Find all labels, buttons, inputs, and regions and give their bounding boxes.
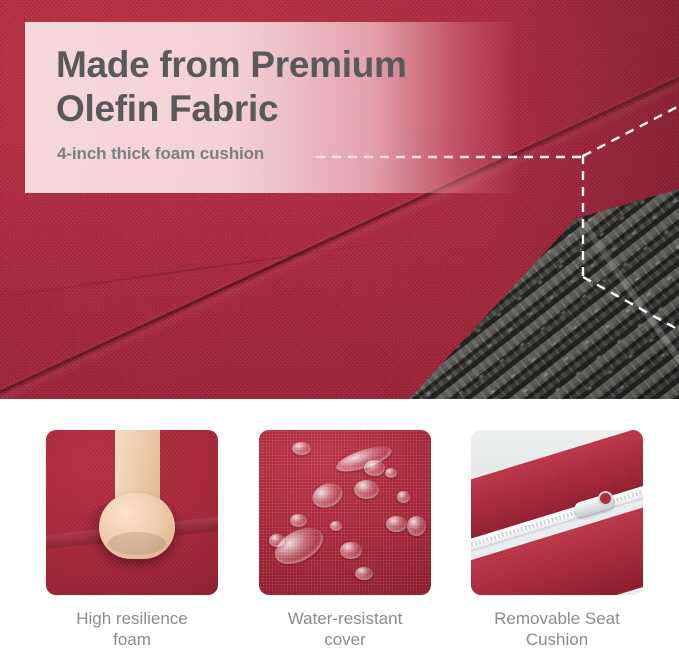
feature-image-foam xyxy=(46,430,218,595)
water-droplet xyxy=(397,491,411,503)
water-droplet xyxy=(292,442,311,455)
hero-headline: Made from Premium Olefin Fabric xyxy=(56,43,486,131)
water-droplet xyxy=(407,516,426,536)
feature-water-resistant-cover[interactable]: Water-resistant cover xyxy=(259,430,431,650)
feature-caption-cushion: Removable Seat Cushion xyxy=(471,608,643,650)
water-droplet xyxy=(330,521,342,531)
feature-caption-foam: High resilience foam xyxy=(46,608,218,650)
headline-line-1: Made from Premium xyxy=(56,44,407,85)
headline-line-2: Olefin Fabric xyxy=(56,87,486,131)
water-droplet xyxy=(386,516,407,533)
feature-removable-seat-cushion[interactable]: Removable Seat Cushion xyxy=(471,430,643,650)
feature-caption-water: Water-resistant cover xyxy=(259,608,431,650)
caption-line-2: cover xyxy=(324,630,366,649)
fabric-mesh-texture xyxy=(259,430,431,595)
product-infographic: Made from Premium Olefin Fabric 4-inch t… xyxy=(0,0,679,652)
caption-line-2: Cushion xyxy=(526,630,588,649)
headline-overlay-inner: Made from Premium Olefin Fabric 4-inch t… xyxy=(25,22,517,193)
water-droplet xyxy=(269,534,284,547)
headline-overlay-panel: Made from Premium Olefin Fabric 4-inch t… xyxy=(25,22,517,193)
water-droplet xyxy=(385,468,397,478)
feature-high-resilience-foam[interactable]: High resilience foam xyxy=(46,430,218,650)
water-droplet xyxy=(355,567,372,580)
caption-line-1: Water-resistant xyxy=(288,609,403,628)
feature-image-water xyxy=(259,430,431,595)
caption-line-1: Removable Seat xyxy=(494,609,620,628)
features-section: High resilience foam xyxy=(0,399,679,652)
water-droplet xyxy=(340,542,362,559)
caption-line-1: High resilience xyxy=(76,609,188,628)
water-droplet xyxy=(364,460,385,477)
hero-section: Made from Premium Olefin Fabric 4-inch t… xyxy=(0,0,679,399)
feature-image-zipper xyxy=(471,430,643,595)
hero-subline: 4-inch thick foam cushion xyxy=(57,143,264,165)
caption-line-2: foam xyxy=(113,630,151,649)
